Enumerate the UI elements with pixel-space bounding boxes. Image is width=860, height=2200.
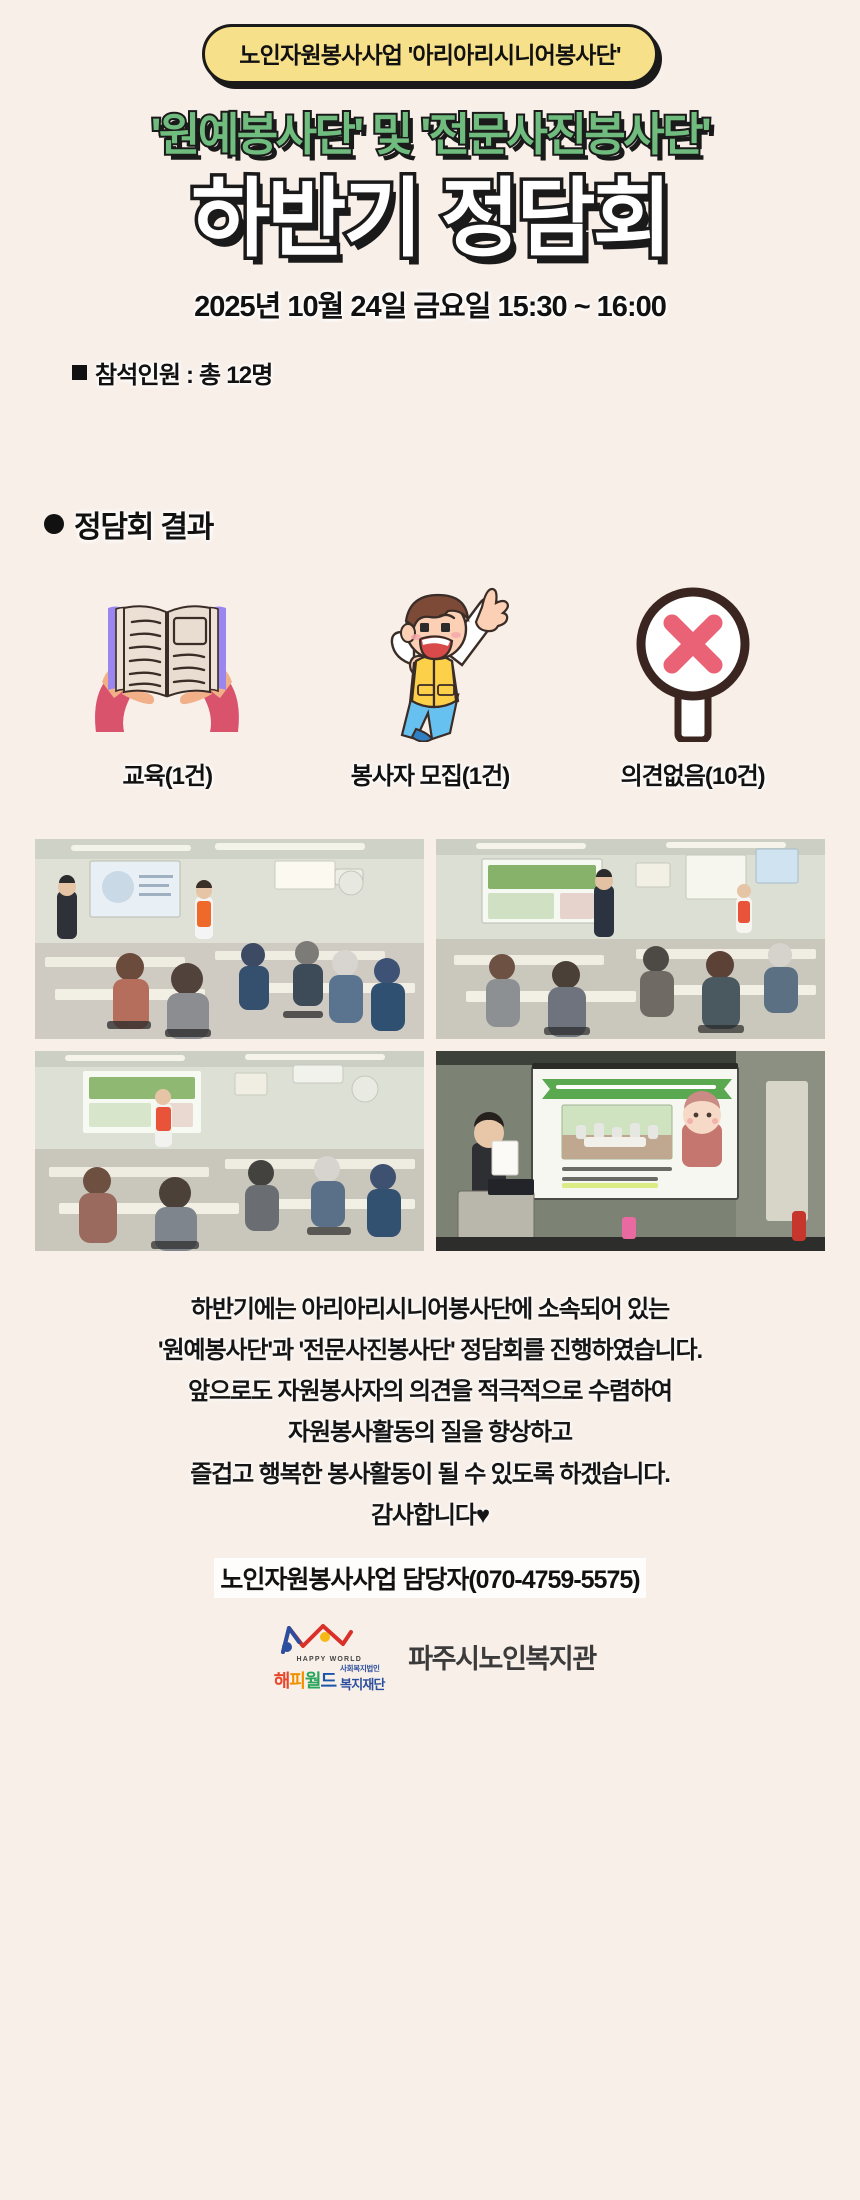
poster-subtitle: '원예봉사단' 및 '전문사진봉사단': [151, 110, 710, 160]
logo-corp: 복지재단: [340, 1674, 385, 1693]
results-section-heading: 정담회 결과: [44, 502, 213, 546]
closing-line-4: 자원봉사활동의 질을 향상하고: [158, 1412, 702, 1453]
photo-audience-screen: [436, 839, 825, 1039]
result-label-no-opinion: 의견없음(10건): [621, 756, 765, 791]
attendance-text: 참석인원 : 총 12명: [95, 355, 273, 390]
closing-line-3: 앞으로도 자원봉사자의 의견을 적극적으로 수렴하여: [158, 1371, 702, 1412]
logo-name: 해피월드: [274, 1667, 336, 1693]
page-title: 하반기 정담회: [191, 174, 669, 264]
logo-corp-small: 사회복지법인: [340, 1663, 385, 1674]
attendance-line: 참석인원 : 총 12명: [72, 355, 273, 390]
logo-corp-block: 사회복지법인 복지재단: [340, 1663, 385, 1693]
footer-organization: 파주시노인복지관: [408, 1637, 596, 1676]
contact-line: 노인자원봉사사업 담당자(070-4759-5575): [214, 1558, 645, 1598]
program-badge-wrapper: 노인자원봉사사업 '아리아리시니어봉사단': [202, 24, 657, 84]
closing-line-2: '원예봉사단'과 '전문사진봉사단' 정담회를 진행하였습니다.: [158, 1330, 702, 1371]
closing-paragraph: 하반기에는 아리아리시니어봉사단에 소속되어 있는 '원예봉사단'과 '전문사진…: [158, 1289, 702, 1537]
result-item-no-opinion: 의견없음(10건): [568, 582, 818, 791]
photo-meeting-overview: [35, 839, 424, 1039]
footer: HAPPY WORLD 해피월드 사회복지법인 복지재단 파주시노인복지관: [264, 1620, 596, 1693]
results-row: 교육(1건): [0, 582, 860, 791]
event-datetime: 2025년 10월 24일 금요일 15:30 ~ 16:00: [194, 283, 666, 325]
square-bullet-icon: [72, 365, 87, 380]
logo-tagline: HAPPY WORLD: [296, 1656, 362, 1663]
closing-line-5: 즐겁고 행복한 봉사활동이 될 수 있도록 하겠습니다.: [158, 1454, 702, 1495]
poster-root: 노인자원봉사사업 '아리아리시니어봉사단' '원예봉사단' 및 '전문사진봉사단…: [0, 0, 860, 2200]
x-mark-paddle-icon: [568, 582, 818, 742]
photo-presentation-slide: [436, 1051, 825, 1251]
program-badge: 노인자원봉사사업 '아리아리시니어봉사단': [202, 24, 657, 84]
photo-seated-attendees: [35, 1051, 424, 1251]
results-section-label: 정담회 결과: [74, 502, 213, 546]
happy-world-logo: HAPPY WORLD 해피월드 사회복지법인 복지재단: [264, 1620, 394, 1693]
cheering-volunteer-character-icon: [305, 582, 555, 742]
result-item-education: 교육(1건): [42, 582, 292, 791]
circle-bullet-icon: [44, 514, 64, 534]
closing-line-1: 하반기에는 아리아리시니어봉사단에 소속되어 있는: [158, 1289, 702, 1330]
closing-line-6: 감사합니다♥: [158, 1495, 702, 1536]
logo-name-row: 해피월드 사회복지법인 복지재단: [274, 1663, 385, 1693]
photo-grid: [35, 839, 825, 1251]
result-item-recruitment: 봉사자 모집(1건): [305, 582, 555, 791]
open-book-in-hands-icon: [42, 582, 292, 742]
result-label-education: 교육(1건): [123, 756, 213, 791]
result-label-recruitment: 봉사자 모집(1건): [351, 756, 509, 791]
